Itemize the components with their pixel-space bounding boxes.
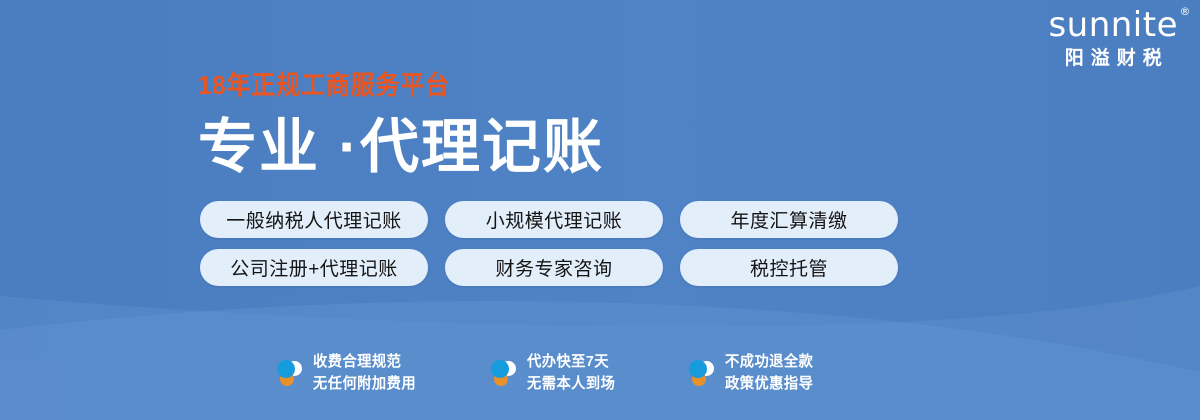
feature-text-speed: 代办快至7天 无需本人到场 [527,351,615,394]
promo-banner: sunnite ® 阳溢财税 18年正规工商服务平台 专业 ·代理记账 一般纳税… [0,0,1200,420]
service-pill-general-taxpayer-bookkeeping[interactable]: 一般纳税人代理记账 [200,201,428,238]
feature-line-2: 无任何附加费用 [313,373,416,394]
dual-circle-icon [276,358,303,387]
feature-line-2: 政策优惠指导 [725,373,813,394]
logo-wordmark: sunnite ® [1048,8,1178,42]
feature-text-pricing: 收费合理规范 无任何附加费用 [313,351,416,394]
dual-circle-icon [688,358,715,387]
feature-text-guarantee: 不成功退全款 政策优惠指导 [725,351,813,394]
feature-strip: 收费合理规范 无任何附加费用 代办快至7天 无需本人到场 不成功退全款 [276,351,818,394]
service-pill-small-scale-bookkeeping[interactable]: 小规模代理记账 [445,201,663,238]
logo-wordmark-text: sunnite [1048,5,1178,45]
service-pill-grid: 一般纳税人代理记账 小规模代理记账 年度汇算清缴 公司注册+代理记账 财务专家咨… [200,201,898,286]
logo-chinese-name: 阳溢财税 [1048,49,1178,68]
hero-headline: 专业 ·代理记账 [198,114,604,180]
service-pill-finance-expert-consulting[interactable]: 财务专家咨询 [445,249,663,286]
registered-trademark-icon: ® [1180,6,1192,17]
feature-item-pricing: 收费合理规范 无任何附加费用 [276,351,422,394]
feature-line-1: 不成功退全款 [725,351,813,372]
service-pill-company-registration-bookkeeping[interactable]: 公司注册+代理记账 [200,249,428,286]
brand-logo[interactable]: sunnite ® 阳溢财税 [1048,8,1178,68]
feature-line-1: 代办快至7天 [527,351,615,372]
hero-text-block: 18年正规工商服务平台 专业 ·代理记账 [198,72,604,180]
icon-circle-blue [491,360,509,378]
service-pill-tax-control-hosting[interactable]: 税控托管 [680,249,898,286]
feature-line-2: 无需本人到场 [527,373,615,394]
hero-eyebrow: 18年正规工商服务平台 [198,72,572,98]
feature-line-1: 收费合理规范 [313,351,416,372]
feature-item-speed: 代办快至7天 无需本人到场 [490,351,620,394]
service-pill-annual-settlement[interactable]: 年度汇算清缴 [680,201,898,238]
dual-circle-icon [490,358,517,387]
icon-circle-blue [689,360,707,378]
feature-item-guarantee: 不成功退全款 政策优惠指导 [688,351,818,394]
